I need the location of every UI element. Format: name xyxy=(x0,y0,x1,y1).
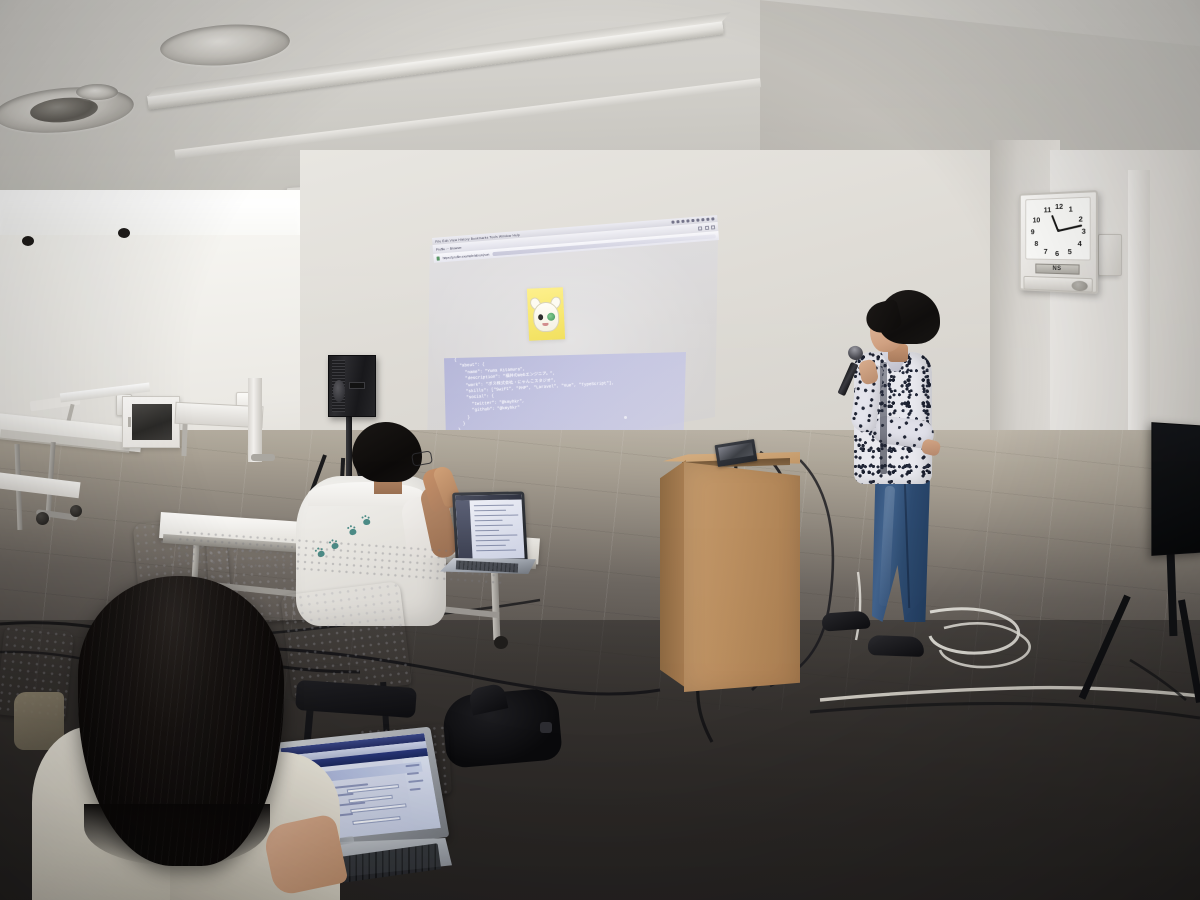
conference-room-photo: 12 1 2 3 4 5 6 7 8 9 10 11 NS File Edit … xyxy=(0,0,1200,900)
attendee-man-laptop[interactable] xyxy=(440,492,536,588)
presenter-shoe-left xyxy=(821,610,870,631)
screen-sidebar xyxy=(456,500,473,559)
table-caster xyxy=(494,636,508,649)
presenter-shoe-right xyxy=(868,635,925,657)
attendee-woman xyxy=(20,576,350,900)
attendee-man-hair xyxy=(352,422,422,482)
podium-laptop-screen xyxy=(718,442,754,460)
presenter-shirt-placket xyxy=(880,362,887,474)
lectern-podium xyxy=(660,452,800,692)
glasses-icon xyxy=(411,450,433,466)
paw-print-graphic xyxy=(361,515,371,525)
cable-tv xyxy=(1130,660,1186,700)
podium-caster xyxy=(118,228,130,238)
cable-white-run xyxy=(820,687,1200,700)
podium-caster xyxy=(22,236,34,246)
laptop-screen xyxy=(455,494,524,559)
podium-front-panel xyxy=(684,462,800,692)
backpack-buckle xyxy=(540,722,552,733)
podium-side-panel xyxy=(660,460,686,688)
cable-black-run xyxy=(810,703,1200,718)
presenter-person xyxy=(820,290,980,680)
flat-panel-display[interactable] xyxy=(1151,422,1200,556)
laptop-lid xyxy=(452,491,528,564)
